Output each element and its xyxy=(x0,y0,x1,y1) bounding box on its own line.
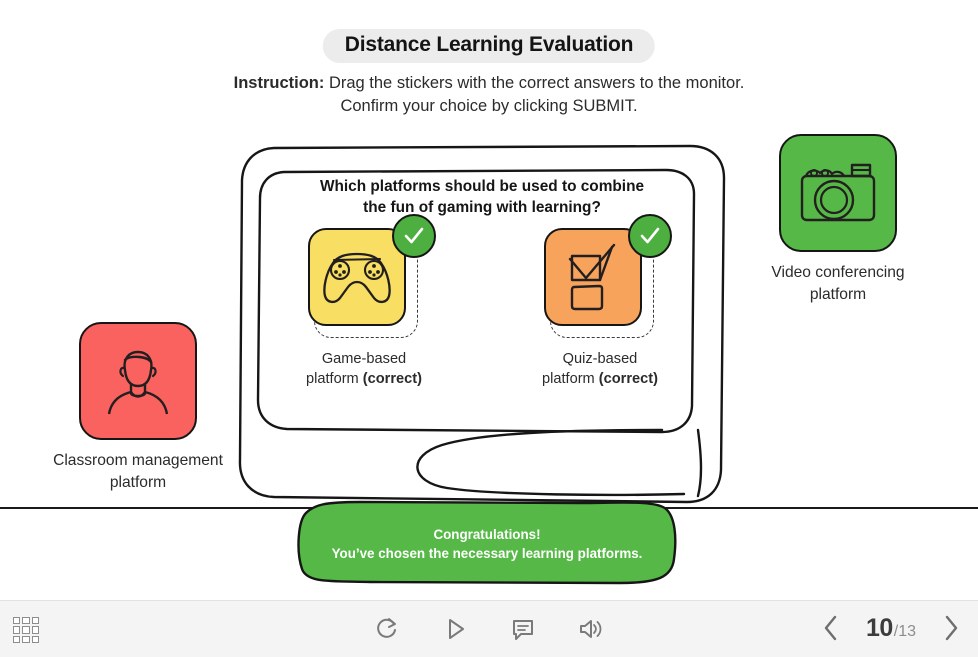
answer-slot-game-based[interactable]: Game-based platform (correct) xyxy=(300,228,428,389)
sticker-label-line-1: Classroom management xyxy=(38,450,238,472)
correct-check-badge-game-based xyxy=(392,214,436,258)
person-icon xyxy=(97,340,179,422)
question-line-2: the fun of gaming with learning? xyxy=(288,197,676,218)
feedback-banner: Congratulations! You’ve chosen the neces… xyxy=(290,497,684,589)
sticker-classroom-management[interactable]: Classroom management platform xyxy=(38,322,238,494)
play-button[interactable] xyxy=(439,613,471,645)
grid-menu-icon[interactable] xyxy=(13,617,39,643)
answer-label-line-1: Quiz-based xyxy=(536,349,664,369)
feedback-line-2: You’ve chosen the necessary learning pla… xyxy=(290,544,684,563)
volume-icon xyxy=(578,616,604,642)
sticker-label-line-2: platform xyxy=(738,284,938,306)
replay-icon xyxy=(374,616,400,642)
current-page-number: 10 xyxy=(866,614,893,643)
question-line-1: Which platforms should be used to combin… xyxy=(288,176,676,197)
drop-slot-quiz-based[interactable] xyxy=(544,228,656,340)
instruction-line-1: Instruction: Drag the stickers with the … xyxy=(0,72,978,95)
check-icon xyxy=(402,224,426,248)
drop-slot-game-based[interactable] xyxy=(308,228,420,340)
instruction-block: Instruction: Drag the stickers with the … xyxy=(0,72,978,118)
feedback-line-1: Congratulations! xyxy=(290,525,684,544)
answer-status: (correct) xyxy=(363,371,422,387)
instruction-line-2: Confirm your choice by clicking SUBMIT. xyxy=(0,95,978,118)
grid-cell xyxy=(22,617,29,624)
answer-label-line-1: Game-based xyxy=(300,349,428,369)
grid-cell xyxy=(32,617,39,624)
grid-cell xyxy=(13,636,20,643)
volume-button[interactable] xyxy=(575,613,607,645)
instruction-text: Drag the stickers with the correct answe… xyxy=(324,74,744,92)
camera-icon xyxy=(794,157,882,229)
answer-status: (correct) xyxy=(599,371,658,387)
comment-button[interactable] xyxy=(507,613,539,645)
replay-button[interactable] xyxy=(371,613,403,645)
page-counter: 10 /13 xyxy=(866,614,916,643)
grid-cell xyxy=(13,617,20,624)
answer-label-game-based: Game-based platform (correct) xyxy=(300,349,428,389)
grid-cell xyxy=(13,626,20,633)
grid-cell xyxy=(22,626,29,633)
answer-label-text: platform xyxy=(542,371,599,387)
answer-label-line-2: platform (correct) xyxy=(300,369,428,389)
slide-stage: Distance Learning Evaluation Instruction… xyxy=(0,0,978,600)
sticker-tile-classroom-management[interactable] xyxy=(79,322,197,440)
page-title: Distance Learning Evaluation xyxy=(323,29,655,63)
sticker-label-video-conferencing: Video conferencing platform xyxy=(738,262,938,306)
feedback-text: Congratulations! You’ve chosen the neces… xyxy=(290,525,684,563)
chevron-left-icon xyxy=(822,614,840,642)
answer-slots: Game-based platform (correct) xyxy=(272,228,692,389)
question-text: Which platforms should be used to combin… xyxy=(272,168,692,218)
play-icon xyxy=(442,616,468,642)
grid-cell xyxy=(22,636,29,643)
sticker-video-conferencing[interactable]: Video conferencing platform xyxy=(738,134,938,306)
sticker-label-line-2: platform xyxy=(38,472,238,494)
total-page-count: /13 xyxy=(894,623,916,641)
comment-icon xyxy=(510,616,536,642)
sticker-tile-video-conferencing[interactable] xyxy=(779,134,897,252)
playback-controls xyxy=(371,613,607,645)
quiz-checkbox-icon xyxy=(560,242,626,312)
answer-label-line-2: platform (correct) xyxy=(536,369,664,389)
prev-page-button[interactable] xyxy=(818,611,844,645)
chevron-right-icon xyxy=(942,614,960,642)
answer-label-quiz-based: Quiz-based platform (correct) xyxy=(536,349,664,389)
sticker-quiz-based[interactable] xyxy=(544,228,642,326)
check-icon xyxy=(638,224,662,248)
grid-cell xyxy=(32,626,39,633)
sticker-game-based[interactable] xyxy=(308,228,406,326)
correct-check-badge-quiz-based xyxy=(628,214,672,258)
instruction-label: Instruction: xyxy=(234,74,325,92)
grid-cell xyxy=(32,636,39,643)
player-toolbar: 10 /13 xyxy=(0,600,978,657)
sticker-label-line-1: Video conferencing xyxy=(738,262,938,284)
answer-label-text: platform xyxy=(306,371,363,387)
answer-slot-quiz-based[interactable]: Quiz-based platform (correct) xyxy=(536,228,664,389)
page-navigation: 10 /13 xyxy=(818,611,964,645)
next-page-button[interactable] xyxy=(938,611,964,645)
screen-content: Which platforms should be used to combin… xyxy=(272,168,692,418)
sticker-label-classroom-management: Classroom management platform xyxy=(38,450,238,494)
gamepad-icon xyxy=(320,246,394,308)
